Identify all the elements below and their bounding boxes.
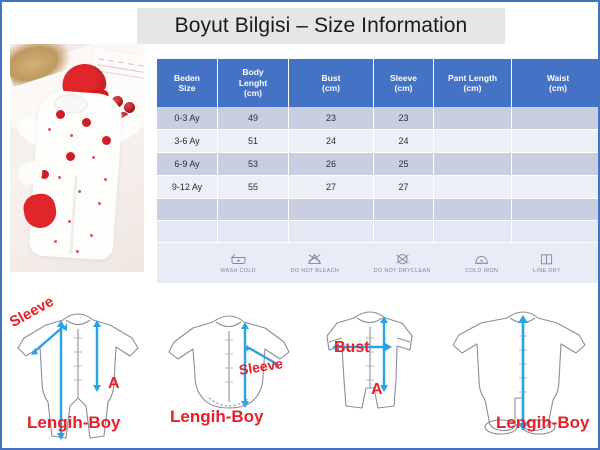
care-symbols-strip: WASH COLD DO NOT BLEACH [157, 243, 600, 283]
cell-bust: 26 [289, 153, 374, 176]
table-header-row: BedenSize BodyLenght(cm) Bust(cm) Sleeve… [157, 59, 600, 107]
diagram-footed-sleepsuit: Lengih-Boy [451, 302, 600, 450]
col-header-sleeve: Sleeve(cm) [374, 59, 434, 107]
cell-pant-length [434, 176, 512, 199]
size-table: BedenSize BodyLenght(cm) Bust(cm) Sleeve… [157, 59, 600, 283]
cell-pant-length [434, 130, 512, 153]
do-not-dryclean-icon [394, 253, 411, 266]
col-header-pant-length: Pant Length(cm) [434, 59, 512, 107]
diagram-long-sleeve-footless-romper: Sleeve A Lengih-Boy [4, 302, 153, 450]
cell-bust: 24 [289, 130, 374, 153]
care-item-wash-cold: WASH COLD [220, 253, 256, 274]
col-header-waist: Waist(cm) [512, 59, 600, 107]
diagram-label-length: Lengih-Boy [170, 408, 264, 425]
diagram-label-a: A [108, 376, 120, 392]
diagram-label-bust: Bust [334, 340, 370, 356]
cell-sleeve: 24 [374, 130, 434, 153]
cell-size: 0-3 Ay [157, 107, 218, 130]
cell-waist [512, 221, 600, 243]
care-label: DO NOT DRYCLEAN [374, 268, 431, 274]
table-row: 9-12 Ay 55 27 27 [157, 176, 600, 199]
diagram-short-sleeve-romper: Bust A [302, 302, 451, 450]
diagram-label-length: Lengih-Boy [27, 414, 121, 431]
do-not-bleach-icon [306, 253, 323, 266]
product-photo [10, 44, 144, 272]
cell-sleeve [374, 199, 434, 221]
cell-bust: 23 [289, 107, 374, 130]
cell-body-length: 49 [218, 107, 289, 130]
table-row-empty [157, 199, 600, 221]
col-header-body-length: BodyLenght(cm) [218, 59, 289, 107]
cell-waist [512, 130, 600, 153]
size-chart-page: Boyut Bilgisi – Size Information [0, 0, 600, 450]
cell-waist [512, 176, 600, 199]
cell-size [157, 221, 218, 243]
care-item-cold-iron: COLD IRON [465, 253, 498, 274]
cell-pant-length [434, 153, 512, 176]
care-symbols-cell: WASH COLD DO NOT BLEACH [157, 243, 600, 284]
cell-waist [512, 199, 600, 221]
short-romper-outline [302, 302, 451, 450]
col-header-bust: Bust(cm) [289, 59, 374, 107]
care-item-do-not-dryclean: DO NOT DRYCLEAN [374, 253, 431, 274]
care-item-line-dry: LINE DRY [533, 253, 561, 274]
bodysuit-outline [153, 302, 302, 450]
cell-sleeve: 23 [374, 107, 434, 130]
cell-body-length: 55 [218, 176, 289, 199]
table-row: 3-6 Ay 51 24 24 [157, 130, 600, 153]
cell-pant-length [434, 107, 512, 130]
cell-body-length [218, 199, 289, 221]
cell-bust [289, 221, 374, 243]
table-row: 6-9 Ay 53 26 25 [157, 153, 600, 176]
diagram-label-length: Lengih-Boy [496, 414, 590, 431]
table-body: 0-3 Ay 49 23 23 3-6 Ay 51 24 24 6-9 Ay 5… [157, 107, 600, 283]
diagram-long-sleeve-bodysuit: Sleeve Lengih-Boy [153, 302, 302, 450]
product-photo-canvas [10, 44, 144, 272]
cell-pant-length [434, 221, 512, 243]
table-row-empty [157, 221, 600, 243]
wash-cold-icon [230, 253, 247, 266]
cell-sleeve: 27 [374, 176, 434, 199]
cell-size [157, 199, 218, 221]
cell-body-length: 53 [218, 153, 289, 176]
cell-bust: 27 [289, 176, 374, 199]
care-label: COLD IRON [465, 268, 498, 274]
cell-waist [512, 153, 600, 176]
col-header-size: BedenSize [157, 59, 218, 107]
cell-sleeve: 25 [374, 153, 434, 176]
page-title-banner: Boyut Bilgisi – Size Information [137, 8, 505, 44]
cell-size: 9-12 Ay [157, 176, 218, 199]
cell-body-length: 51 [218, 130, 289, 153]
measurement-diagrams: Sleeve A Lengih-Boy [4, 302, 600, 450]
page-title: Boyut Bilgisi – Size Information [175, 14, 468, 38]
cell-body-length [218, 221, 289, 243]
table-row: 0-3 Ay 49 23 23 [157, 107, 600, 130]
line-dry-icon [538, 253, 555, 266]
cell-size: 3-6 Ay [157, 130, 218, 153]
cell-pant-length [434, 199, 512, 221]
care-label: DO NOT BLEACH [291, 268, 339, 274]
care-label: WASH COLD [220, 268, 256, 274]
cell-size: 6-9 Ay [157, 153, 218, 176]
cell-bust [289, 199, 374, 221]
diagram-label-a: A [371, 382, 383, 398]
cold-iron-icon [473, 253, 490, 266]
care-symbols-row: WASH COLD DO NOT BLEACH [157, 243, 600, 284]
cell-sleeve [374, 221, 434, 243]
care-item-do-not-bleach: DO NOT BLEACH [291, 253, 339, 274]
cell-waist [512, 107, 600, 130]
care-label: LINE DRY [533, 268, 561, 274]
